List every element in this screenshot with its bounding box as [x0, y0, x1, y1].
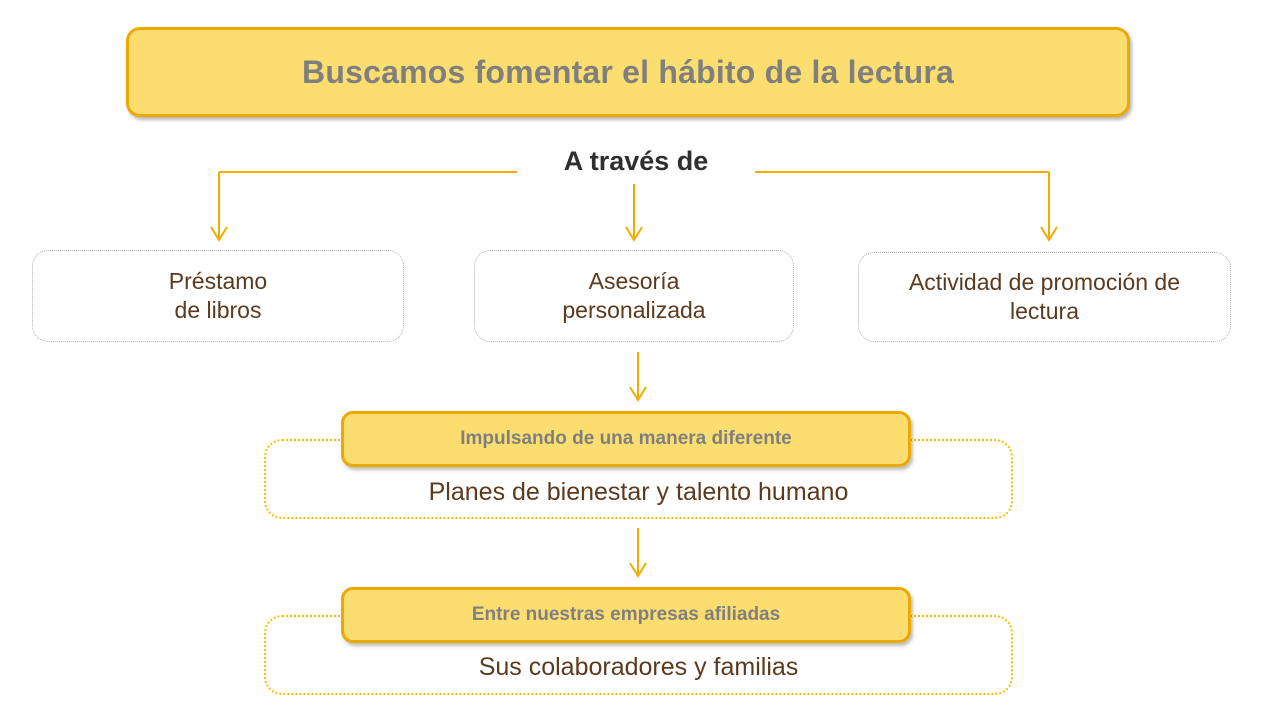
arrowhead-block-5	[630, 563, 646, 576]
option-box-prestamo-de-libros[interactable]: Préstamo de libros	[32, 250, 404, 342]
arrowhead-block-4	[630, 387, 646, 400]
labelled-block-body-text: Planes de bienestar y talento humano	[264, 478, 1013, 507]
title-banner-text: Buscamos fomentar el hábito de la lectur…	[302, 54, 954, 91]
arrowhead-left	[211, 227, 227, 240]
labelled-block-body-text: Sus colaboradores y familias	[264, 653, 1013, 682]
labelled-block-tag[interactable]: Impulsando de una manera diferente	[341, 411, 911, 467]
title-banner: Buscamos fomentar el hábito de la lectur…	[126, 27, 1130, 117]
option-line-2: de libros	[175, 297, 262, 323]
option-line-2: lectura	[1010, 298, 1079, 324]
option-line-1: Préstamo	[169, 268, 267, 294]
labelled-block-tag[interactable]: Entre nuestras empresas afiliadas	[341, 587, 911, 643]
labelled-block-tag-text: Impulsando de una manera diferente	[460, 428, 792, 450]
arrowhead-middle	[626, 227, 642, 240]
labelled-block-tag-text: Entre nuestras empresas afiliadas	[472, 604, 780, 626]
option-box-actividad-de-promocion[interactable]: Actividad de promoción de lectura	[858, 252, 1231, 342]
option-box-asesoria-personalizada[interactable]: Asesoría personalizada	[474, 250, 794, 342]
option-line-1: Actividad de promoción de	[909, 269, 1180, 295]
option-box-text: Actividad de promoción de lectura	[909, 268, 1180, 327]
option-line-2: personalizada	[562, 297, 705, 323]
diagram-canvas: Buscamos fomentar el hábito de la lectur…	[0, 0, 1280, 720]
option-box-text: Asesoría personalizada	[562, 267, 705, 326]
through-label: A través de	[520, 146, 752, 177]
arrowhead-right	[1041, 227, 1057, 240]
option-line-1: Asesoría	[589, 268, 680, 294]
option-box-text: Préstamo de libros	[169, 267, 267, 326]
